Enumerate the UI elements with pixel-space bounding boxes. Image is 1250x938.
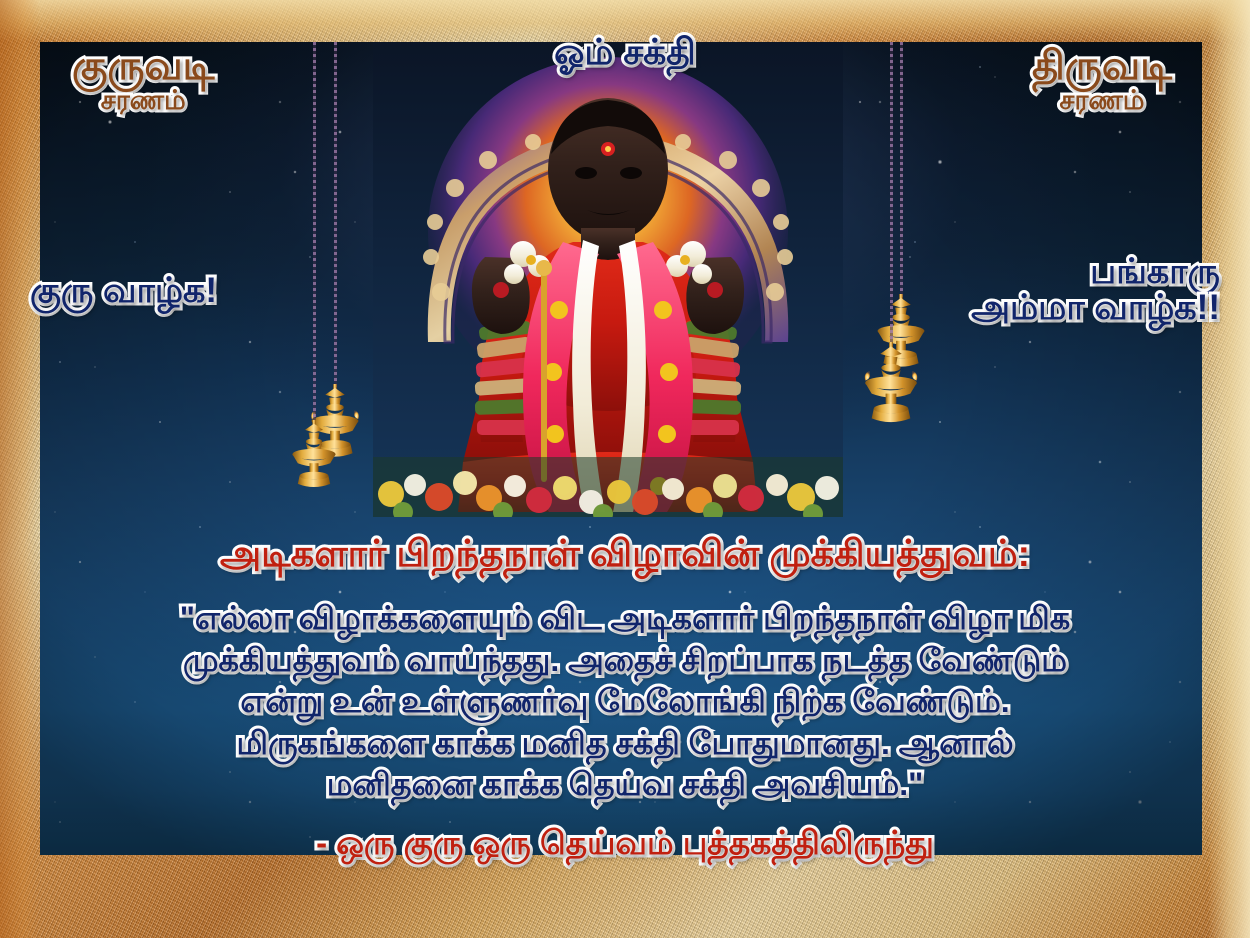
lamp-bowl-icon [278,420,350,492]
quote-line: "எல்லா விழாக்களையும் விட அடிகளார் பிறந்த… [0,598,1250,640]
quote-block: "எல்லா விழாக்களையும் விட அடிகளார் பிறந்த… [0,598,1250,806]
quote-line: மிருகங்களை காக்க மனித சக்தி போதுமானது. ஆ… [0,723,1250,765]
salutation-mid-left: குரு வாழ்க! [30,273,217,309]
quote-line: என்று உன் உள்ளுணர்வு மேலோங்கி நிற்க வேண்… [0,681,1250,723]
lamp-chain-icon [313,42,316,420]
salutation-mid-right-line2: அம்மா வாழ்க!! [971,290,1220,326]
hanging-lamp-left-inner [278,42,350,562]
quote-attribution: - ஒரு குரு ஒரு தெய்வம் புத்தகத்திலிருந்த… [0,826,1250,860]
salutation-mid-right: பங்காரு அம்மா வாழ்க!! [971,254,1220,325]
salutation-top-right-line2: சரணம் [1032,87,1172,115]
deity-portrait-image [373,42,843,517]
salutation-top-right: திருவடி சரணம் [1032,46,1172,114]
salutation-top-left-line2: சரணம் [72,87,215,115]
page-title: அடிகளார் பிறந்தநாள் விழாவின் முக்கியத்து… [0,535,1250,573]
devotional-poster: குருவடி சரணம் ஓம் சக்தி திருவடி சரணம் கு… [0,0,1250,938]
quote-line: மனிதனை காக்க தெய்வ சக்தி அவசியம்." [0,764,1250,806]
lamp-bowl-icon [848,342,934,428]
hanging-lamp-right-outer [848,42,934,460]
salutation-mid-right-line1: பங்காரு [971,254,1220,290]
lamp-chain-icon [890,42,893,342]
quote-line: முக்கியத்துவம் வாய்ந்தது. அதைச் சிறப்பாக… [0,640,1250,682]
salutation-top-right-line1: திருவடி [1032,46,1172,87]
